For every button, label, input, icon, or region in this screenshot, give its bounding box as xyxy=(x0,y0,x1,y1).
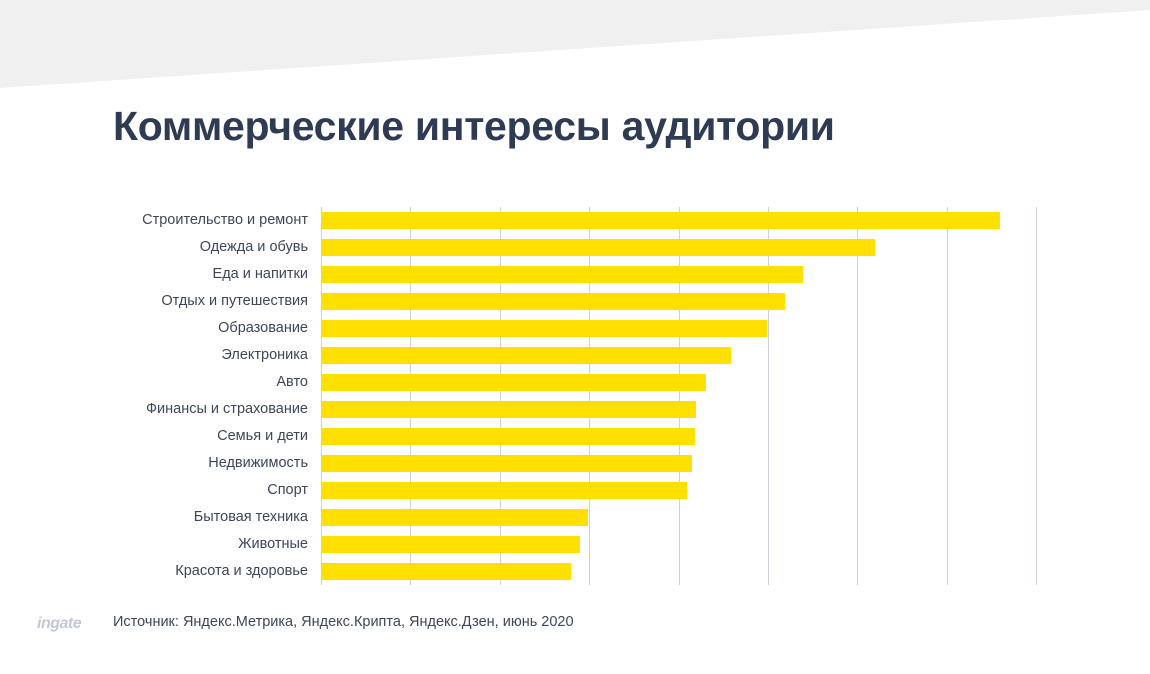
bar-row[interactable]: Одежда и обувь xyxy=(321,234,1036,261)
bar-category-label: Авто xyxy=(276,370,308,395)
slide-root: Коммерческие интересы аудитории Строител… xyxy=(0,0,1150,674)
ingate-logo: ingate xyxy=(37,613,95,635)
logo-text: ingate xyxy=(37,613,95,635)
bar[interactable] xyxy=(321,347,731,364)
bar-row[interactable]: Отдых и путешествия xyxy=(321,288,1036,315)
bar-category-label: Красота и здоровье xyxy=(175,559,308,584)
bar-row[interactable]: Недвижимость xyxy=(321,450,1036,477)
gridline-8 xyxy=(1036,207,1037,585)
bar-row[interactable]: Животные xyxy=(321,531,1036,558)
bar-row[interactable]: Красота и здоровье xyxy=(321,558,1036,585)
bar-row[interactable]: Авто xyxy=(321,369,1036,396)
bar[interactable] xyxy=(321,428,695,445)
bar[interactable] xyxy=(321,239,875,256)
bar-category-label: Электроника xyxy=(221,343,308,368)
bar-category-label: Семья и дети xyxy=(217,424,308,449)
bar-category-label: Образование xyxy=(218,316,308,341)
source-note: Источник: Яндекс.Метрика, Яндекс.Крипта,… xyxy=(113,614,574,630)
bar[interactable] xyxy=(321,563,571,580)
bar-category-label: Животные xyxy=(238,532,308,557)
bar[interactable] xyxy=(321,293,785,310)
bar-row[interactable]: Финансы и страхование xyxy=(321,396,1036,423)
bar-category-label: Строительство и ремонт xyxy=(142,208,308,233)
plot-area: Строительство и ремонтОдежда и обувьЕда … xyxy=(321,207,1036,585)
bar-category-label: Недвижимость xyxy=(208,451,308,476)
bar[interactable] xyxy=(321,455,692,472)
bar-row[interactable]: Бытовая техника xyxy=(321,504,1036,531)
bar-category-label: Финансы и страхование xyxy=(146,397,308,422)
bar-row[interactable]: Семья и дети xyxy=(321,423,1036,450)
bar-category-label: Одежда и обувь xyxy=(200,235,308,260)
bar[interactable] xyxy=(321,320,767,337)
bar-category-label: Бытовая техника xyxy=(194,505,308,530)
bar[interactable] xyxy=(321,536,580,553)
bar[interactable] xyxy=(321,266,803,283)
bar-category-label: Отдых и путешествия xyxy=(161,289,308,314)
bar[interactable] xyxy=(321,212,1000,229)
bar-chart: Строительство и ремонтОдежда и обувьЕда … xyxy=(0,0,1150,674)
bar[interactable] xyxy=(321,401,696,418)
bar-row[interactable]: Строительство и ремонт xyxy=(321,207,1036,234)
bar-category-label: Спорт xyxy=(267,478,308,503)
bar-row[interactable]: Еда и напитки xyxy=(321,261,1036,288)
bar[interactable] xyxy=(321,374,706,391)
bar-rows-group: Строительство и ремонтОдежда и обувьЕда … xyxy=(321,207,1036,585)
bar[interactable] xyxy=(321,482,687,499)
bar-row[interactable]: Электроника xyxy=(321,342,1036,369)
bar-row[interactable]: Образование xyxy=(321,315,1036,342)
bar[interactable] xyxy=(321,509,588,526)
bar-category-label: Еда и напитки xyxy=(213,262,308,287)
bar-row[interactable]: Спорт xyxy=(321,477,1036,504)
